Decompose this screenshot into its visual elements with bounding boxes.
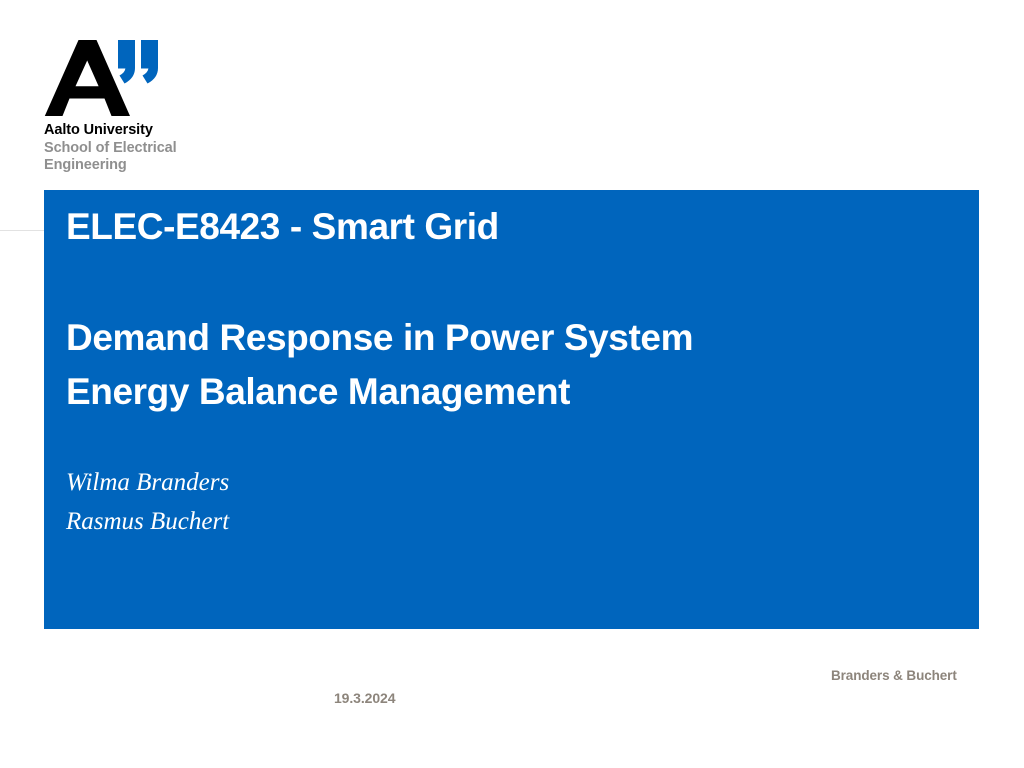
aalto-a-quotes-logo-icon xyxy=(44,38,164,118)
aalto-logo-block: Aalto University School of Electrical En… xyxy=(44,38,264,175)
aalto-logo-wordmark: Aalto University School of Electrical En… xyxy=(44,122,264,175)
author-name-1: Wilma Branders xyxy=(66,464,229,503)
presentation-slide: Aalto University School of Electrical En… xyxy=(0,0,1024,768)
presentation-title: Demand Response in Power System Energy B… xyxy=(66,311,936,420)
course-title: ELEC-E8423 - Smart Grid xyxy=(66,207,499,248)
presentation-title-line-2: Energy Balance Management xyxy=(66,365,936,419)
logo-organization-name: Aalto University xyxy=(44,122,264,140)
presentation-title-line-1: Demand Response in Power System xyxy=(66,311,936,365)
header-divider-line xyxy=(0,230,44,231)
title-panel: ELEC-E8423 - Smart Grid Demand Response … xyxy=(44,190,979,629)
footer-attribution: Branders & Buchert xyxy=(831,668,957,683)
footer-date: 19.3.2024 xyxy=(334,690,395,706)
author-list: Wilma Branders Rasmus Buchert xyxy=(66,464,229,542)
author-name-2: Rasmus Buchert xyxy=(66,503,229,542)
logo-unit-name: School of Electrical Engineering xyxy=(44,140,194,175)
